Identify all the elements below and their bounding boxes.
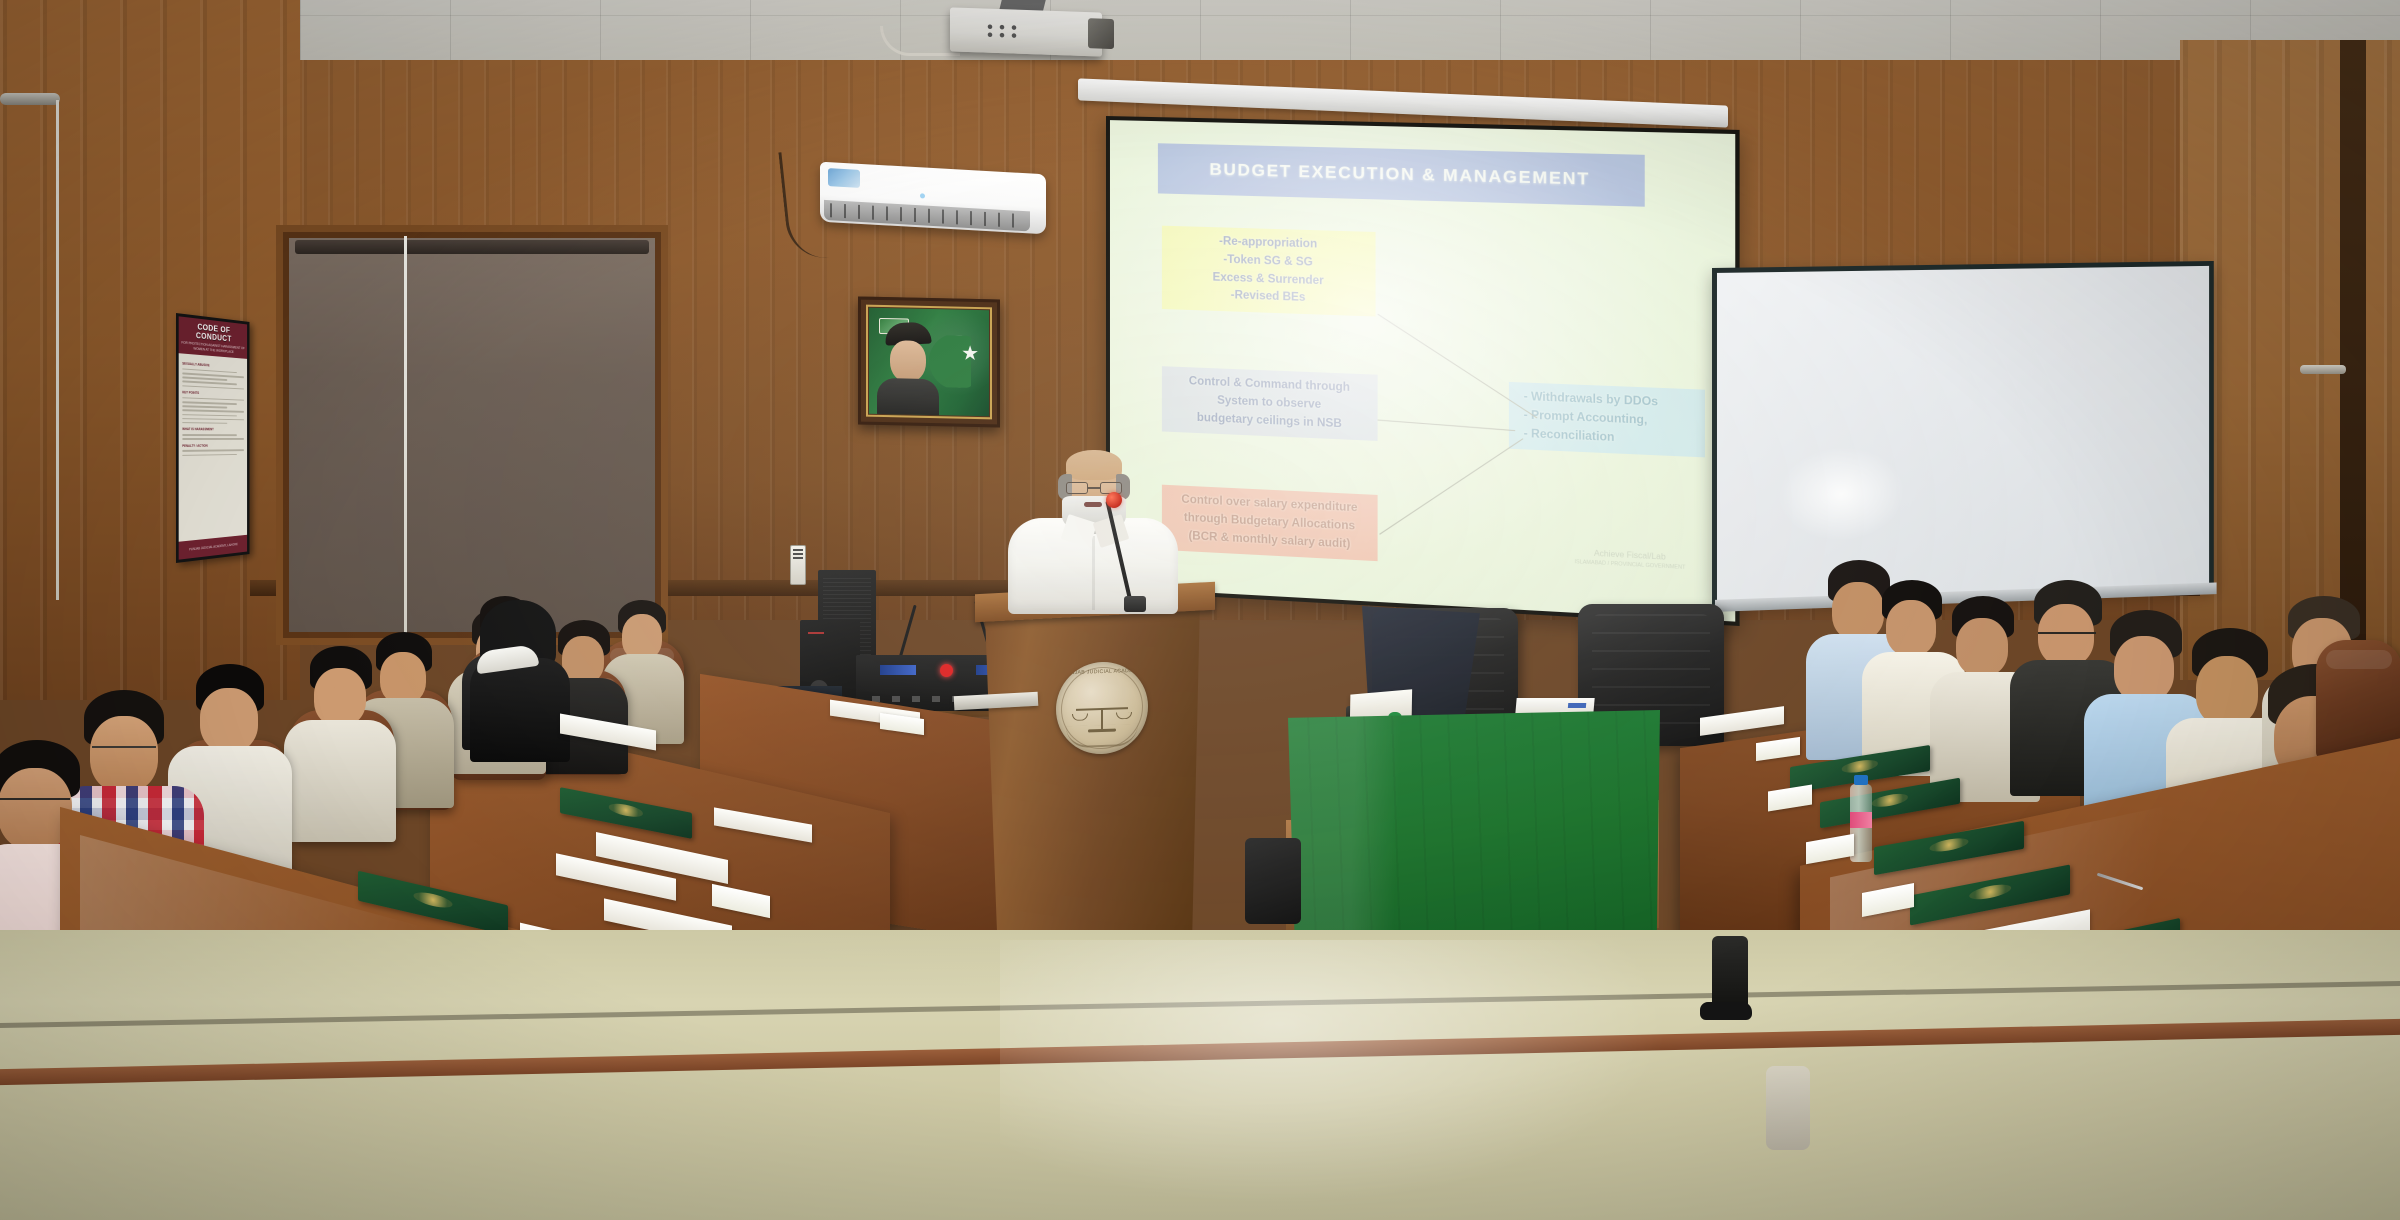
poster-text-line xyxy=(182,385,244,390)
subwoofer-led xyxy=(808,632,824,634)
power-led-icon[interactable] xyxy=(940,664,953,677)
whiteboard xyxy=(1712,261,2214,605)
attendee-head xyxy=(2114,636,2174,702)
slide-box-pink: Control over salary expenditure through … xyxy=(1162,485,1378,562)
attendee-head xyxy=(314,668,366,726)
glasses-bridge xyxy=(1088,487,1100,489)
attendee-shoe xyxy=(1700,1002,1752,1020)
poster-text-line xyxy=(182,434,237,436)
portrait-image: ★ xyxy=(869,308,989,417)
poster-text-line xyxy=(182,401,237,404)
poster-section-title: PENALTY / ACTION xyxy=(182,443,244,447)
slide-credit: Achieve Fiscal/Lab ISLAMABAD / PROVINCIA… xyxy=(1545,545,1716,574)
code-of-conduct-poster: CODE OF CONDUCT FOR PROTECTION AGAINST H… xyxy=(176,313,249,563)
slide-box-yellow: -Re-appropriation -Token SG & SG Excess … xyxy=(1162,226,1376,317)
blind-rod xyxy=(0,93,60,105)
poster-section-title: KEY POINTS xyxy=(182,390,244,397)
scale-pan-left xyxy=(1072,713,1088,721)
blind-pull-cord[interactable] xyxy=(404,236,407,644)
air-conditioner-icon xyxy=(820,162,1046,235)
right-door-gap xyxy=(2340,40,2366,680)
poster-body: SEXUALLY ABUSIVE KEY POINTS WHAT IS HARA… xyxy=(179,353,247,462)
whiteboard-glare xyxy=(1778,445,1905,543)
poster-text-line xyxy=(182,409,244,412)
window-with-blind xyxy=(276,225,668,645)
wall-thermostat-icon[interactable] xyxy=(790,545,806,585)
slide-title: BUDGET EXECUTION & MANAGEMENT xyxy=(1209,160,1590,190)
podium xyxy=(985,600,1200,970)
attendee-leg xyxy=(1712,936,1748,1012)
blind-pull-cord-far[interactable] xyxy=(56,100,59,600)
attendee-leg xyxy=(1766,1066,1810,1150)
jinnah-face xyxy=(890,340,926,383)
presentation-slide: BUDGET EXECUTION & MANAGEMENT -Re-approp… xyxy=(1110,120,1735,622)
bag-under-table xyxy=(1245,838,1301,924)
amp-display-left xyxy=(880,665,916,675)
floor-reflection xyxy=(1000,940,1700,1220)
attendee-head xyxy=(200,688,258,752)
jinnah-sherwani xyxy=(877,378,939,416)
microphone-icon xyxy=(1106,492,1122,508)
emblem-wreath xyxy=(1066,724,1138,749)
jinnah-figure xyxy=(877,322,939,415)
poster-text-line xyxy=(182,438,244,440)
projector-icon xyxy=(950,7,1102,56)
bottle-cap xyxy=(1854,775,1868,785)
presenter-mouth xyxy=(1084,502,1102,507)
conference-room-photo: CODE OF CONDUCT FOR PROTECTION AGAINST H… xyxy=(0,0,2400,1220)
bottle-label xyxy=(1850,812,1872,828)
document-on-head-table xyxy=(1515,698,1594,714)
slide-title-bar: BUDGET EXECUTION & MANAGEMENT xyxy=(1158,143,1645,206)
projector-lens-icon xyxy=(1088,18,1114,49)
slide-box-cyan: - Withdrawals by DDOs - Prompt Accountin… xyxy=(1509,382,1705,458)
jinnah-portrait-frame: ★ xyxy=(858,297,1000,428)
slide-connector-line xyxy=(1377,314,1537,419)
roller-blind[interactable] xyxy=(289,238,655,632)
attendee-body xyxy=(284,720,396,842)
attendee-head xyxy=(1886,600,1936,656)
projection-screen: BUDGET EXECUTION & MANAGEMENT -Re-approp… xyxy=(1106,116,1740,626)
attendee-headscarf xyxy=(470,600,570,760)
poster-text-line xyxy=(182,418,244,421)
ac-status-led xyxy=(920,193,925,198)
presenter-bald-crown xyxy=(1066,450,1122,480)
slide-connector-line xyxy=(1379,438,1523,535)
poster-text-line xyxy=(182,454,237,456)
slide-connector-line xyxy=(1378,420,1516,432)
attendee xyxy=(284,646,396,842)
attendee-head xyxy=(1956,618,2008,676)
microphone-base xyxy=(1124,596,1146,612)
attendee-body xyxy=(470,658,570,762)
poster-section-title: WHAT IS HARASSMENT xyxy=(182,428,244,432)
door-handle-icon[interactable] xyxy=(2300,365,2346,374)
poster-text-line xyxy=(182,414,237,417)
glasses-lens-left xyxy=(1066,482,1088,494)
presenter xyxy=(1008,452,1178,612)
slide-box-grey: Control & Command through System to obse… xyxy=(1162,366,1378,441)
ac-sticker xyxy=(828,168,860,188)
blind-roller-bar xyxy=(295,240,649,254)
poster-text-line xyxy=(182,381,237,386)
poster-text-line xyxy=(182,422,227,424)
poster-text-line xyxy=(182,405,227,408)
projector-buttons[interactable] xyxy=(984,23,1032,41)
shirt-placket xyxy=(1092,536,1095,610)
poster-text-line xyxy=(182,397,244,401)
poster-text-line xyxy=(182,450,244,452)
star-icon: ★ xyxy=(961,344,979,364)
